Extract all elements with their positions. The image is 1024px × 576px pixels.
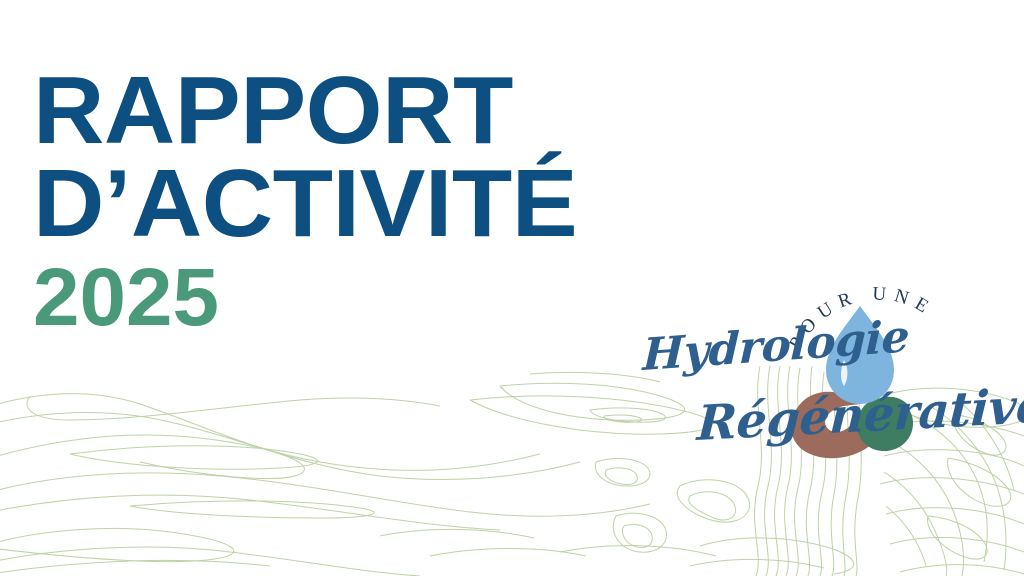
title-line-rapport: RAPPORT [33, 66, 713, 155]
report-cover: RAPPORT D’ACTIVITÉ 2025 POUR UNE [0, 0, 1024, 576]
title-line-activite: D’ACTIVITÉ [33, 159, 713, 248]
logo-hydrologie-regenerative: POUR UNE Hydrologie Régénérative [628, 248, 1008, 468]
title-year: 2025 [33, 259, 706, 337]
page-title: RAPPORT D’ACTIVITÉ 2025 [33, 66, 693, 336]
